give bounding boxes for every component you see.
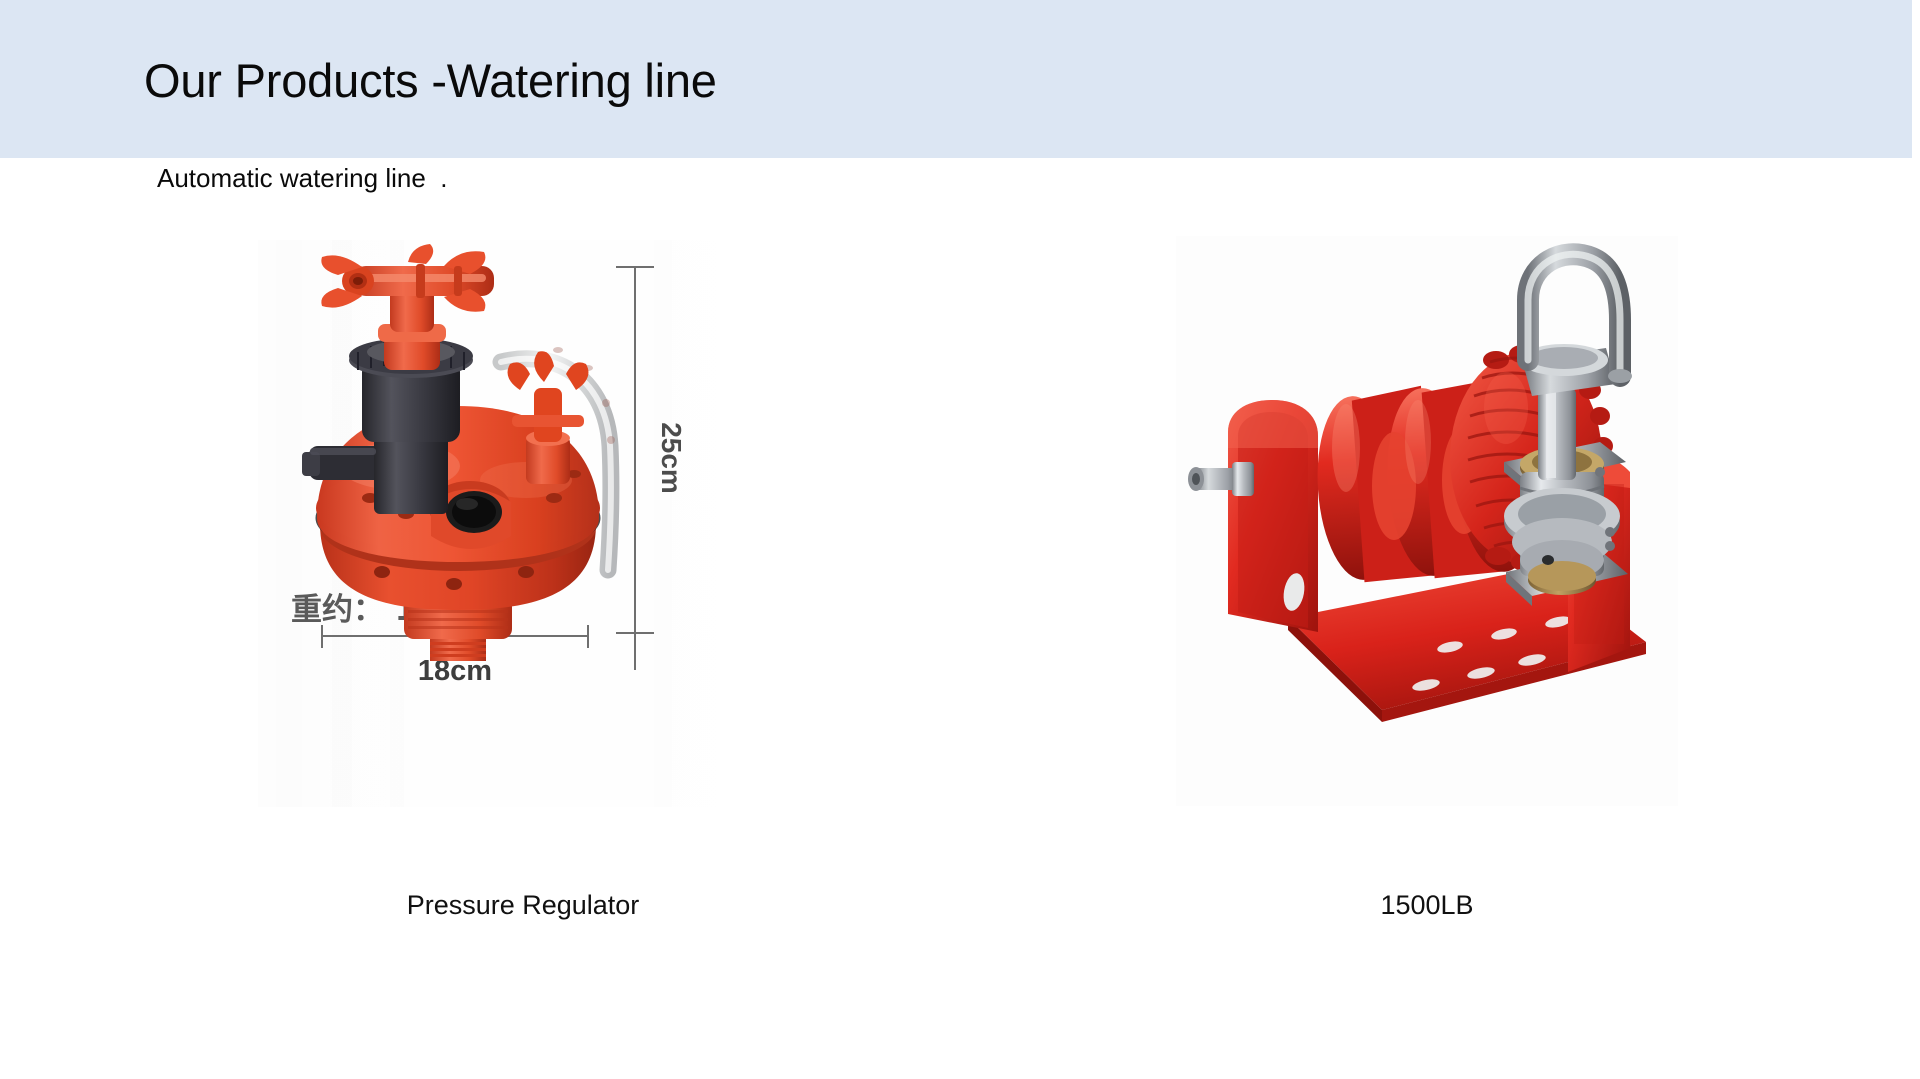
product-caption-winch: 1500LB — [1176, 890, 1678, 921]
slide-subtitle: Automatic watering line . — [157, 163, 447, 194]
dimension-height-label: 25cm — [656, 422, 687, 494]
page-title: Our Products -Watering line — [144, 56, 717, 105]
product-card-pressure-regulator: 25cm 18cm 重约： 1.3kg — [258, 240, 788, 807]
product-caption-pressure-regulator: Pressure Regulator — [258, 890, 788, 921]
product-card-winch — [1176, 236, 1678, 806]
product-image-winch — [1176, 236, 1678, 806]
product-image-pressure-regulator: 25cm 18cm 重约： 1.3kg — [258, 240, 788, 807]
